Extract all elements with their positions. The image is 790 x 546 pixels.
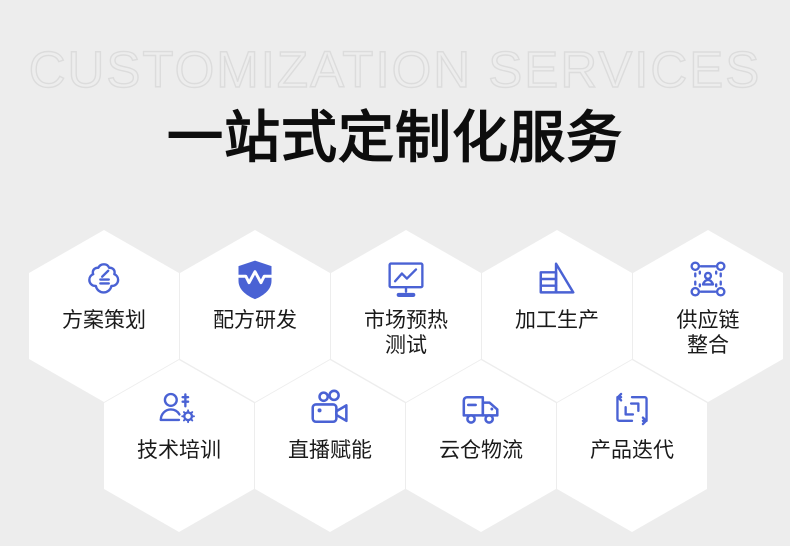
video-camera-icon [307, 386, 353, 432]
page-header: CUSTOMIZATION SERVICES 一站式定制化服务 [0, 0, 790, 200]
service-label: 直播赋能 [288, 438, 372, 463]
delivery-truck-icon [458, 386, 504, 432]
service-label: 云仓物流 [439, 438, 523, 463]
service-label: 市场预热 测试 [364, 308, 448, 358]
service-label: 配方研发 [213, 308, 297, 333]
iteration-loop-icon [609, 386, 655, 432]
cloud-pen-icon [81, 256, 127, 302]
service-label: 产品迭代 [590, 438, 674, 463]
service-label: 方案策划 [62, 308, 146, 333]
service-label: 供应链 整合 [677, 308, 740, 358]
network-nodes-icon [685, 256, 731, 302]
services-hex-grid: 方案策划 配方研发 市场预热 测试 [0, 224, 790, 514]
outline-heading: CUSTOMIZATION SERVICES [0, 42, 790, 98]
service-label: 加工生产 [515, 308, 599, 333]
monitor-chart-icon [383, 256, 429, 302]
shield-pulse-icon [232, 256, 278, 302]
factory-icon [534, 256, 580, 302]
page-title: 一站式定制化服务 [0, 103, 790, 173]
service-label: 技术培训 [137, 438, 221, 463]
person-gear-icon [156, 386, 202, 432]
